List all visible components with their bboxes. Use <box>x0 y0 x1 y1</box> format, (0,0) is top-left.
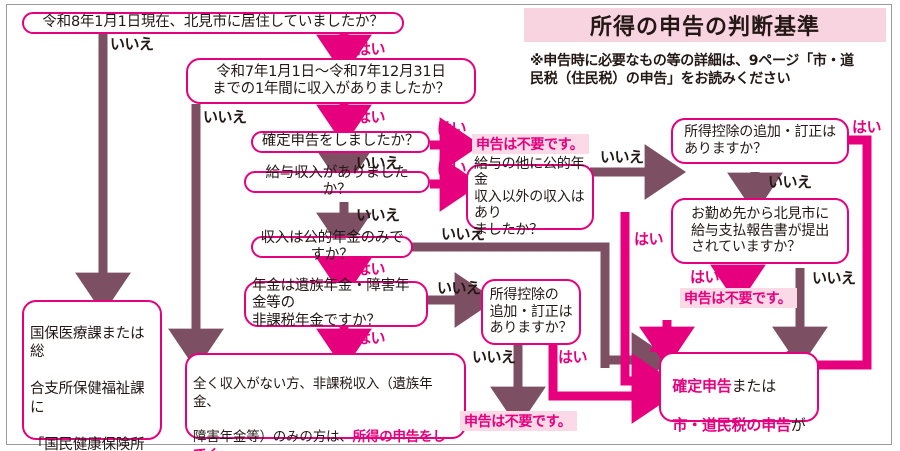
edge-label-q-income-year-no: いいえ <box>203 110 247 125</box>
node-q-income-year-label: 令和7年1月1日〜令和7年12月31日 までの1年間に収入がありましたか？ <box>206 63 456 99</box>
node-q-deduction-mid-label: 所得控除の 追加・訂正は ありますか？ <box>484 286 579 338</box>
edge-label-q-deduction-right-yes: はい <box>852 120 881 135</box>
page-title: 所得の申告の判断基準 <box>590 9 820 41</box>
edge-label-q-resident-yes: はい <box>356 42 385 57</box>
edge-label-q-pension-only-yes: はい <box>356 262 385 277</box>
result-required-emph1: 確定申告 <box>672 377 731 395</box>
result-required-emph2: 市・道民税の申告 <box>672 416 790 434</box>
flowchart-page: 所得の申告の判断基準 ※申告時に必要なもの等の詳細は、9ページ「市・道 民税（住… <box>0 0 900 451</box>
chip-not-required-top: 申告は不要です。 <box>472 134 589 154</box>
node-result-required[interactable]: 確定申告または 市・道民税の申告が 必要となります <box>659 352 819 422</box>
edge-label-q-nontax-pension-no: いいえ <box>437 281 481 296</box>
edge-label-q-resident-no: いいえ <box>110 37 154 52</box>
edge-label-q-payment-report-yes: はい <box>690 270 719 285</box>
result-kokuho-line2: 合支所保健福祉課に <box>30 381 144 416</box>
node-q-payment-report-label: お勤め先から北見市に 給与支払報告書が提出 されていますか？ <box>685 205 835 257</box>
node-q-resident[interactable]: 令和8年1月1日現在、北見市に居住していましたか？ <box>22 12 404 34</box>
node-q-salary[interactable]: 給与収入がありましたか？ <box>244 171 430 193</box>
edge-label-q-deduction-right-no: いいえ <box>768 175 812 190</box>
edge-label-q-payment-report-no: いいえ <box>812 271 856 286</box>
chip-not-required-right: 申告は不要です。 <box>680 288 797 308</box>
edge-label-q-final-return-yes: はい <box>437 121 466 136</box>
edge-label-q-deduction-mid-no: いいえ <box>472 350 516 365</box>
edge-label-q-other-than-salary-yes: はい <box>634 232 663 247</box>
node-q-income-year[interactable]: 令和7年1月1日〜令和7年12月31日 までの1年間に収入がありましたか？ <box>186 58 476 104</box>
edge-label-q-nontax-pension-yes: はい <box>356 331 385 346</box>
node-q-final-return-label: 確定申告をしましたか？ <box>256 132 425 151</box>
node-q-deduction-mid[interactable]: 所得控除の 追加・訂正は ありますか？ <box>481 279 581 345</box>
node-q-salary-label: 給与収入がありましたか？ <box>246 164 428 200</box>
result-kokuho-line3: 「国民健康保険所得 <box>30 437 144 451</box>
edge-label-q-pension-only-no: いいえ <box>441 227 485 242</box>
node-result-kokuho[interactable]: 国保医療課または総 合支所保健福祉課に 「国民健康保険所得 申告書」もしくは「後… <box>22 300 162 440</box>
node-q-payment-report[interactable]: お勤め先から北見市に 給与支払報告書が提出 されていますか？ <box>671 198 849 264</box>
result-required-line1b: または <box>732 377 776 395</box>
result-required-line2b: が <box>791 416 806 434</box>
edge-label-q-other-than-salary-no: いいえ <box>600 150 644 165</box>
node-result-no-income[interactable]: 全く収入がない方、非課税収入（遺族年金、 障害年金等）のみの方は、所得の申告をし… <box>185 353 466 439</box>
node-q-pension-only[interactable]: 収入は公的年金のみですか？ <box>251 236 413 258</box>
node-q-nontax-pension[interactable]: 年金は遺族年金・障害年金等の 非課税年金ですか？ <box>244 281 428 327</box>
edge-label-q-deduction-mid-yes: はい <box>558 350 587 365</box>
edge-label-q-final-return-no: いいえ <box>356 156 400 171</box>
chip-not-required-bottom: 申告は不要です。 <box>460 411 577 431</box>
node-q-deduction-right-label: 所得控除の追加・訂正は ありますか？ <box>678 123 842 158</box>
header-note: ※申告時に必要なもの等の詳細は、9ページ「市・道 民税（住民税）の申告」をお読み… <box>530 52 890 89</box>
node-q-other-than-salary[interactable]: 給与の他に公的年金 収入以外の収入はあり ましたか？ <box>466 164 594 230</box>
node-q-pension-only-label: 収入は公的年金のみですか？ <box>253 229 411 265</box>
header-banner: 所得の申告の判断基準 <box>524 8 886 42</box>
chip-not-required-bottom-label: 申告は不要です。 <box>464 411 571 431</box>
node-q-other-than-salary-label: 給与の他に公的年金 収入以外の収入はあり ましたか？ <box>468 155 592 240</box>
chip-not-required-top-label: 申告は不要です。 <box>476 134 583 154</box>
node-q-nontax-pension-label: 年金は遺族年金・障害年金等の 非課税年金ですか？ <box>246 277 426 330</box>
edge-label-q-salary-yes: はい <box>437 161 466 176</box>
node-q-final-return[interactable]: 確定申告をしましたか？ <box>251 131 430 153</box>
result-no-income-line1: 全く収入がない方、非課税収入（遺族年金、 <box>193 376 432 410</box>
result-kokuho-line1: 国保医療課または総 <box>30 326 144 361</box>
result-no-income-line2a: 障害年金等）のみの方は、 <box>193 429 353 445</box>
edge-label-q-salary-no: いいえ <box>356 208 400 223</box>
node-q-resident-label: 令和8年1月1日現在、北見市に居住していましたか？ <box>36 13 389 32</box>
node-q-deduction-right[interactable]: 所得控除の追加・訂正は ありますか？ <box>671 118 849 164</box>
edge-label-q-income-year-yes: はい <box>356 110 385 125</box>
chip-not-required-right-label: 申告は不要です。 <box>684 288 791 308</box>
